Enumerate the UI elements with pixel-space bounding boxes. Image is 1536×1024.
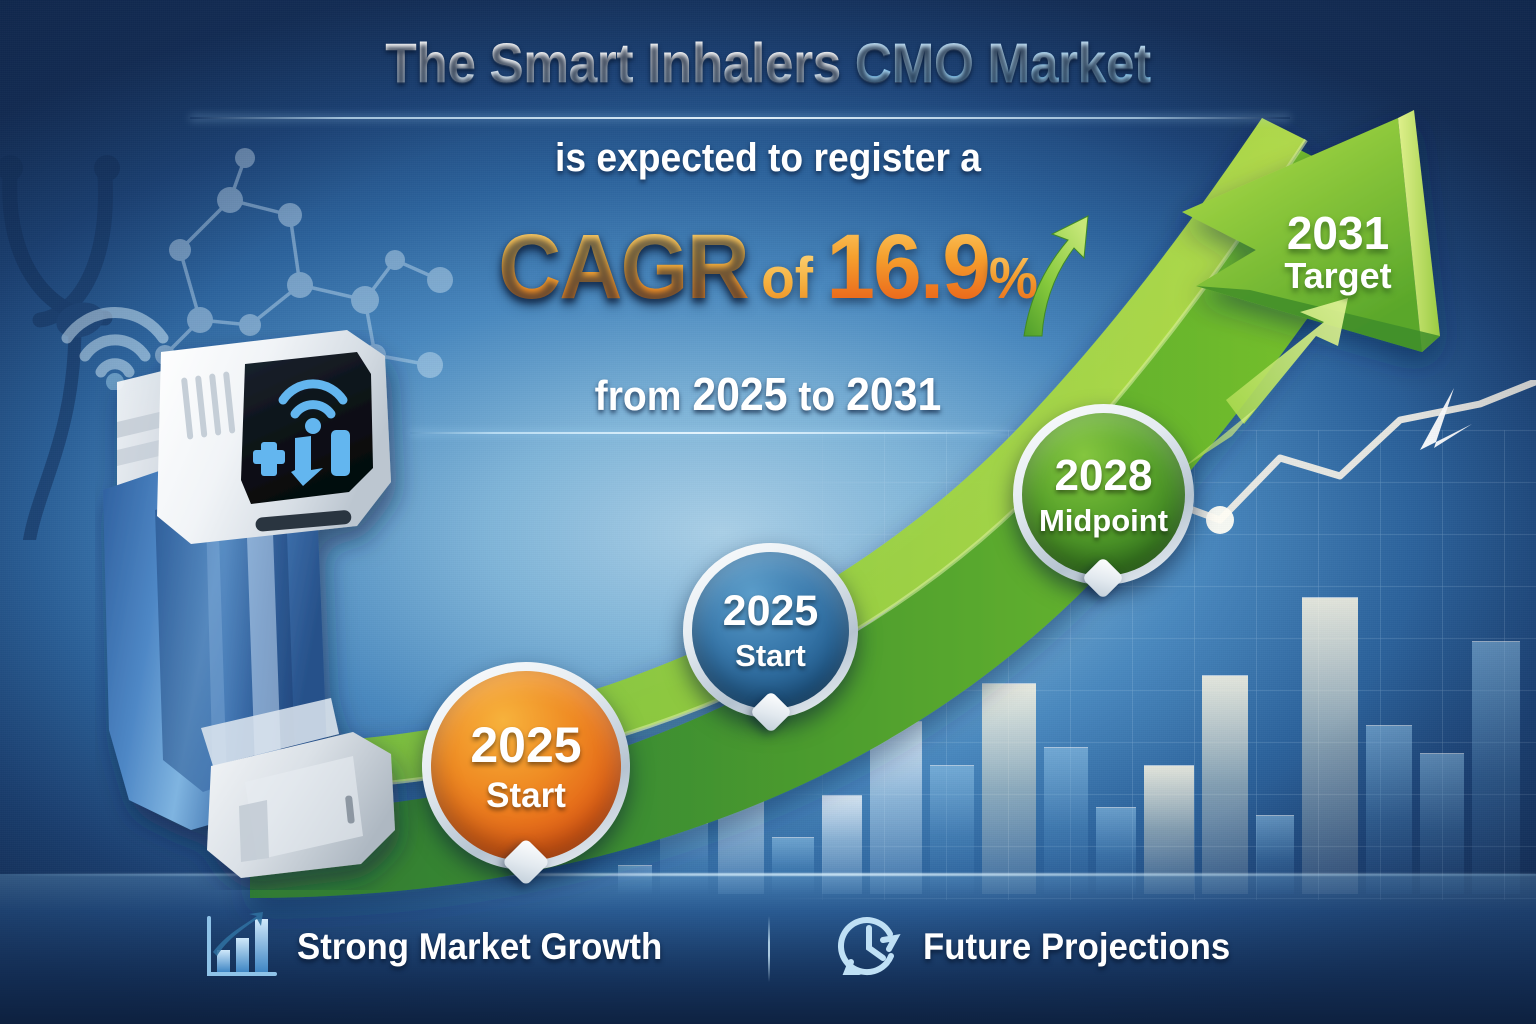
title-part-accent: CMO Market (855, 31, 1151, 94)
period-divider (410, 432, 1010, 434)
infographic-canvas: The Smart Inhalers CMO Market is expecte… (0, 0, 1536, 1024)
footer-item-label: Strong Market Growth (297, 926, 662, 968)
milestone-year: 2028 (1055, 454, 1153, 498)
milestone-midpoint-green[interactable]: 2028 Midpoint (1013, 404, 1194, 585)
cagr-connector-label: of (761, 246, 813, 311)
milestone-label: Start (486, 778, 566, 813)
milestone-core: 2025 Start (431, 671, 621, 861)
period-line: from 2025 to 2031 (54, 367, 1482, 421)
title-part-primary: The Smart Inhalers (385, 31, 854, 94)
milestone-label: Midpoint (1039, 505, 1168, 536)
clock-icon (833, 912, 905, 982)
target-year: 2031 (1248, 210, 1428, 257)
milestone-start-blue[interactable]: 2025 Start (683, 543, 858, 718)
period-end-year: 2031 (846, 368, 941, 420)
target-callout: 2031 Target (1248, 210, 1428, 295)
footer-item-future-projections[interactable]: Future Projections (833, 912, 1250, 982)
footer-divider (768, 916, 770, 982)
page-title: The Smart Inhalers CMO Market (61, 30, 1474, 95)
footer: Strong Market Growth Future Projections (0, 908, 1536, 988)
target-label: Target (1248, 257, 1428, 295)
footer-item-strong-market-growth[interactable]: Strong Market Growth (205, 912, 686, 982)
cagr-unit: % (989, 246, 1038, 311)
milestone-core: 2028 Midpoint (1022, 413, 1185, 576)
period-connector: to (798, 372, 835, 419)
milestone-start-orange[interactable]: 2025 Start (422, 662, 630, 870)
title-divider-top (190, 117, 1290, 119)
period-prefix: from (595, 372, 682, 419)
milestone-core: 2025 Start (692, 552, 849, 709)
milestone-year: 2025 (723, 590, 819, 633)
subtitle: is expected to register a (54, 136, 1482, 181)
cagr-prefix-label: CAGR (498, 216, 748, 318)
footer-item-label: Future Projections (923, 926, 1230, 968)
bar-chart-growth-icon (205, 912, 279, 982)
period-start-year: 2025 (692, 368, 787, 420)
milestone-year: 2025 (470, 720, 581, 770)
milestone-label: Start (735, 640, 806, 671)
cagr-value: 16.9 (826, 216, 989, 318)
